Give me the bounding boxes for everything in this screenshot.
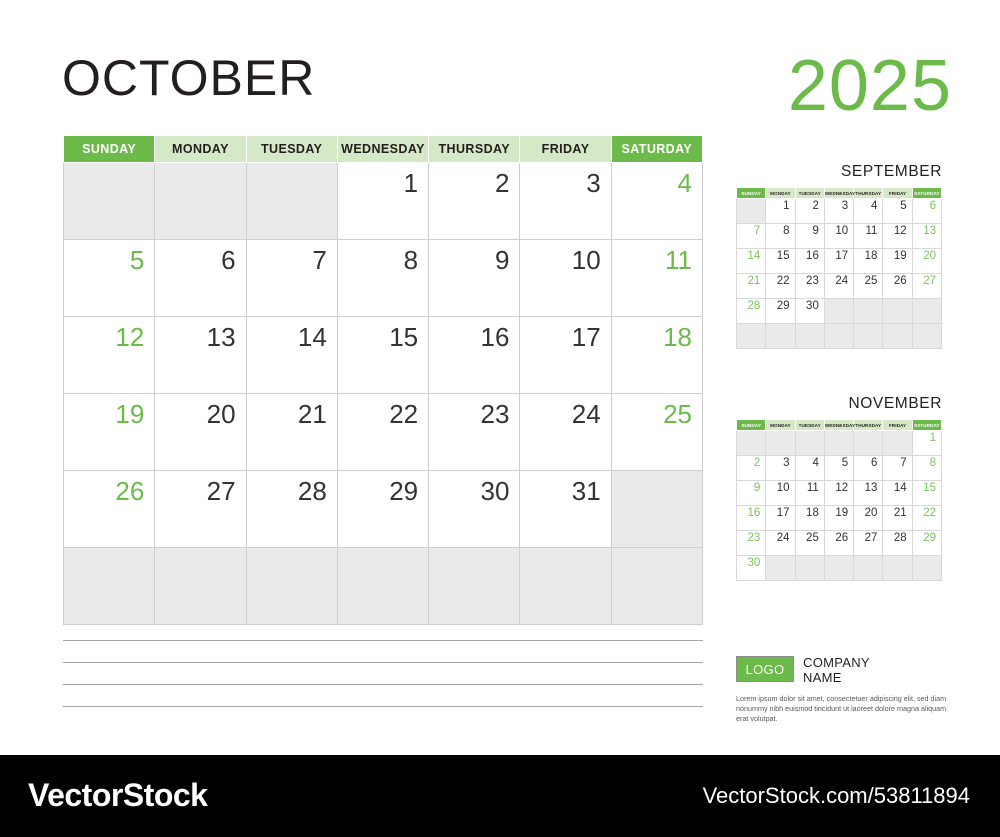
calendar-week-row: 78910111213: [737, 224, 942, 249]
calendar-cell-empty: [824, 431, 853, 456]
notes-area: [63, 640, 703, 728]
calendar-day-cell[interactable]: 8: [766, 224, 795, 249]
calendar-day-cell[interactable]: 20: [912, 249, 941, 274]
calendar-day-cell[interactable]: 8: [912, 456, 941, 481]
page-title: OCTOBER: [62, 53, 315, 103]
calendar-cell-empty: [246, 163, 337, 240]
calendar-cell-empty: [912, 324, 941, 349]
calendar-day-cell[interactable]: 26: [64, 471, 155, 548]
calendar-week-row: 123456: [737, 199, 942, 224]
mini-calendar-header-row: SUNDAYMONDAYTUESDAYWEDNESDAYTHURSDAYFRID…: [737, 188, 942, 199]
calendar-day-cell[interactable]: 27: [155, 471, 246, 548]
calendar-cell-empty: [520, 548, 611, 625]
calendar-day-cell[interactable]: 5: [64, 240, 155, 317]
calendar-day-cell[interactable]: 13: [854, 481, 883, 506]
logo-placeholder: LOGO: [736, 656, 794, 682]
calendar-day-cell[interactable]: 25: [795, 531, 824, 556]
calendar-day-cell[interactable]: 2: [429, 163, 520, 240]
calendar-day-cell[interactable]: 1: [766, 199, 795, 224]
calendar-day-cell[interactable]: 25: [611, 394, 702, 471]
calendar-sheet: OCTOBER 2025 SUNDAYMONDAYTUESDAYWEDNESDA…: [0, 0, 1000, 755]
calendar-week-row: 9101112131415: [737, 481, 942, 506]
calendar-week-row: [64, 548, 703, 625]
calendar-cell-empty: [429, 548, 520, 625]
calendar-day-cell[interactable]: 13: [912, 224, 941, 249]
calendar-week-row: 30: [737, 556, 942, 581]
calendar-day-cell[interactable]: 12: [883, 224, 912, 249]
calendar-day-cell[interactable]: 10: [520, 240, 611, 317]
note-line: [63, 684, 703, 685]
weekday-header-monday: MONDAY: [766, 188, 795, 199]
calendar-day-cell[interactable]: 24: [824, 274, 853, 299]
calendar-day-cell[interactable]: 23: [795, 274, 824, 299]
calendar-day-cell[interactable]: 20: [155, 394, 246, 471]
calendar-week-row: 1234: [64, 163, 703, 240]
calendar-day-cell[interactable]: 6: [155, 240, 246, 317]
calendar-day-cell[interactable]: 29: [912, 531, 941, 556]
calendar-day-cell[interactable]: 16: [795, 249, 824, 274]
calendar-day-cell[interactable]: 18: [795, 506, 824, 531]
calendar-day-cell[interactable]: 22: [337, 394, 428, 471]
calendar-day-cell[interactable]: 22: [766, 274, 795, 299]
calendar-day-cell[interactable]: 12: [824, 481, 853, 506]
calendar-cell-empty: [795, 431, 824, 456]
calendar-day-cell[interactable]: 15: [337, 317, 428, 394]
calendar-day-cell[interactable]: 16: [429, 317, 520, 394]
main-calendar-grid: SUNDAYMONDAYTUESDAYWEDNESDAYTHURSDAYFRID…: [63, 135, 703, 625]
weekday-header-friday: FRIDAY: [520, 136, 611, 163]
main-calendar-body: 1234567891011121314151617181920212223242…: [64, 163, 703, 625]
calendar-cell-empty: [883, 324, 912, 349]
calendar-cell-empty: [883, 556, 912, 581]
calendar-day-cell[interactable]: 7: [883, 456, 912, 481]
weekday-header-thursday: THURSDAY: [854, 188, 883, 199]
calendar-day-cell[interactable]: 29: [337, 471, 428, 548]
calendar-week-row: 1: [737, 431, 942, 456]
calendar-day-cell[interactable]: 19: [824, 506, 853, 531]
calendar-cell-empty: [912, 299, 941, 324]
calendar-day-cell[interactable]: 30: [429, 471, 520, 548]
calendar-cell-empty: [854, 299, 883, 324]
calendar-cell-empty: [766, 324, 795, 349]
calendar-cell-empty: [246, 548, 337, 625]
calendar-cell-empty: [766, 431, 795, 456]
calendar-day-cell[interactable]: 11: [795, 481, 824, 506]
calendar-day-cell[interactable]: 5: [883, 199, 912, 224]
weekday-header-tuesday: TUESDAY: [795, 420, 824, 431]
calendar-day-cell[interactable]: 9: [737, 481, 766, 506]
calendar-week-row: 19202122232425: [64, 394, 703, 471]
weekday-header-saturday: SATURDAY: [912, 420, 941, 431]
calendar-day-cell[interactable]: 2: [795, 199, 824, 224]
weekday-header-wednesday: WEDNESDAY: [824, 420, 853, 431]
calendar-day-cell[interactable]: 4: [611, 163, 702, 240]
calendar-day-cell[interactable]: 26: [883, 274, 912, 299]
calendar-cell-empty: [854, 556, 883, 581]
calendar-cell-empty: [766, 556, 795, 581]
weekday-header-sunday: SUNDAY: [64, 136, 155, 163]
calendar-day-cell[interactable]: 15: [912, 481, 941, 506]
calendar-day-cell[interactable]: 7: [246, 240, 337, 317]
calendar-day-cell[interactable]: 27: [854, 531, 883, 556]
calendar-cell-empty: [795, 556, 824, 581]
weekday-header-tuesday: TUESDAY: [795, 188, 824, 199]
footer-url: VectorStock.com/53811894: [703, 783, 970, 809]
calendar-cell-empty: [611, 471, 702, 548]
calendar-cell-empty: [824, 556, 853, 581]
weekday-header-wednesday: WEDNESDAY: [824, 188, 853, 199]
weekday-header-friday: FRIDAY: [883, 188, 912, 199]
weekday-header-wednesday: WEDNESDAY: [337, 136, 428, 163]
note-line: [63, 640, 703, 641]
weekday-header-thursday: THURSDAY: [429, 136, 520, 163]
calendar-day-cell[interactable]: 14: [737, 249, 766, 274]
calendar-day-cell[interactable]: 14: [883, 481, 912, 506]
calendar-day-cell[interactable]: 17: [824, 249, 853, 274]
calendar-cell-empty: [155, 163, 246, 240]
mini-calendar-body: 1234567891011121314151617181920212223242…: [737, 199, 942, 349]
calendar-day-cell[interactable]: 24: [766, 531, 795, 556]
calendar-day-cell[interactable]: 7: [737, 224, 766, 249]
calendar-day-cell[interactable]: 21: [246, 394, 337, 471]
mini-calendar-grid: SUNDAYMONDAYTUESDAYWEDNESDAYTHURSDAYFRID…: [736, 187, 942, 349]
calendar-cell-empty: [883, 431, 912, 456]
calendar-day-cell[interactable]: 29: [766, 299, 795, 324]
calendar-cell-empty: [611, 548, 702, 625]
mini-calendar-grid: SUNDAYMONDAYTUESDAYWEDNESDAYTHURSDAYFRID…: [736, 419, 942, 581]
weekday-header-friday: FRIDAY: [883, 420, 912, 431]
weekday-header-sunday: SUNDAY: [737, 420, 766, 431]
calendar-day-cell[interactable]: 25: [854, 274, 883, 299]
company-name-line: NAME: [803, 670, 842, 685]
calendar-day-cell[interactable]: 13: [155, 317, 246, 394]
calendar-cell-empty: [824, 324, 853, 349]
calendar-day-cell[interactable]: 21: [883, 506, 912, 531]
calendar-day-cell[interactable]: 14: [246, 317, 337, 394]
calendar-day-cell[interactable]: 21: [737, 274, 766, 299]
mini-calendar-september: SEPTEMBER SUNDAYMONDAYTUESDAYWEDNESDAYTH…: [736, 163, 942, 349]
calendar-week-row: [737, 324, 942, 349]
calendar-day-cell[interactable]: 16: [737, 506, 766, 531]
calendar-week-row: 21222324252627: [737, 274, 942, 299]
mini-calendar-november: NOVEMBER SUNDAYMONDAYTUESDAYWEDNESDAYTHU…: [736, 395, 942, 581]
weekday-header-saturday: SATURDAY: [611, 136, 702, 163]
calendar-day-cell[interactable]: 8: [337, 240, 428, 317]
calendar-week-row: 2345678: [737, 456, 942, 481]
calendar-day-cell[interactable]: 18: [611, 317, 702, 394]
calendar-day-cell[interactable]: 1: [912, 431, 941, 456]
calendar-day-cell[interactable]: 19: [64, 394, 155, 471]
calendar-day-cell[interactable]: 26: [824, 531, 853, 556]
company-description: Lorem ipsum dolor sit amet, consectetuer…: [736, 694, 948, 724]
calendar-day-cell[interactable]: 28: [737, 299, 766, 324]
year-label: 2025: [788, 50, 952, 122]
calendar-day-cell[interactable]: 17: [520, 317, 611, 394]
calendar-day-cell[interactable]: 30: [795, 299, 824, 324]
calendar-cell-empty: [337, 548, 428, 625]
calendar-day-cell[interactable]: 12: [64, 317, 155, 394]
company-block: LOGO COMPANYNAME Lorem ipsum dolor sit a…: [736, 656, 948, 724]
calendar-cell-empty: [64, 548, 155, 625]
calendar-week-row: 567891011: [64, 240, 703, 317]
mini-calendar-title: NOVEMBER: [736, 395, 942, 413]
calendar-week-row: 282930: [737, 299, 942, 324]
calendar-day-cell[interactable]: 10: [824, 224, 853, 249]
calendar-day-cell[interactable]: 4: [854, 199, 883, 224]
note-line: [63, 706, 703, 707]
calendar-day-cell[interactable]: 20: [854, 506, 883, 531]
calendar-day-cell[interactable]: 11: [611, 240, 702, 317]
weekday-header-tuesday: TUESDAY: [246, 136, 337, 163]
weekday-header-saturday: SATURDAY: [912, 188, 941, 199]
weekday-header-monday: MONDAY: [155, 136, 246, 163]
calendar-cell-empty: [883, 299, 912, 324]
calendar-day-cell[interactable]: 24: [520, 394, 611, 471]
calendar-week-row: 14151617181920: [737, 249, 942, 274]
calendar-cell-empty: [737, 199, 766, 224]
weekday-header-monday: MONDAY: [766, 420, 795, 431]
calendar-day-cell[interactable]: 2: [737, 456, 766, 481]
calendar-week-row: 23242526272829: [737, 531, 942, 556]
calendar-week-row: 262728293031: [64, 471, 703, 548]
calendar-day-cell[interactable]: 28: [883, 531, 912, 556]
note-line: [63, 662, 703, 663]
calendar-day-cell[interactable]: 11: [854, 224, 883, 249]
mini-calendar-title: SEPTEMBER: [736, 163, 942, 181]
calendar-day-cell[interactable]: 6: [912, 199, 941, 224]
calendar-day-cell[interactable]: 3: [766, 456, 795, 481]
calendar-day-cell[interactable]: 1: [337, 163, 428, 240]
calendar-day-cell[interactable]: 3: [520, 163, 611, 240]
calendar-week-row: 16171819202122: [737, 506, 942, 531]
calendar-day-cell[interactable]: 19: [883, 249, 912, 274]
calendar-cell-empty: [912, 556, 941, 581]
footer-brand: VectorStock: [28, 777, 207, 814]
calendar-day-cell[interactable]: 9: [429, 240, 520, 317]
calendar-cell-empty: [155, 548, 246, 625]
calendar-day-cell[interactable]: 27: [912, 274, 941, 299]
company-name-line: COMPANY: [803, 655, 870, 670]
calendar-cell-empty: [64, 163, 155, 240]
calendar-day-cell[interactable]: 9: [795, 224, 824, 249]
calendar-day-cell[interactable]: 23: [737, 531, 766, 556]
calendar-cell-empty: [737, 431, 766, 456]
calendar-day-cell[interactable]: 30: [737, 556, 766, 581]
calendar-day-cell[interactable]: 31: [520, 471, 611, 548]
calendar-day-cell[interactable]: 10: [766, 481, 795, 506]
weekday-header-thursday: THURSDAY: [854, 420, 883, 431]
main-calendar-header-row: SUNDAYMONDAYTUESDAYWEDNESDAYTHURSDAYFRID…: [64, 136, 703, 163]
mini-calendar-body: 1234567891011121314151617181920212223242…: [737, 431, 942, 581]
calendar-week-row: 12131415161718: [64, 317, 703, 394]
calendar-cell-empty: [824, 299, 853, 324]
calendar-day-cell[interactable]: 17: [766, 506, 795, 531]
calendar-cell-empty: [737, 324, 766, 349]
calendar-day-cell[interactable]: 5: [824, 456, 853, 481]
calendar-day-cell[interactable]: 22: [912, 506, 941, 531]
calendar-day-cell[interactable]: 18: [854, 249, 883, 274]
watermark-footer: VectorStock VectorStock.com/53811894: [0, 755, 1000, 837]
company-name: COMPANYNAME: [803, 656, 870, 685]
weekday-header-sunday: SUNDAY: [737, 188, 766, 199]
calendar-day-cell[interactable]: 4: [795, 456, 824, 481]
calendar-day-cell[interactable]: 23: [429, 394, 520, 471]
calendar-day-cell[interactable]: 3: [824, 199, 853, 224]
calendar-day-cell[interactable]: 6: [854, 456, 883, 481]
mini-calendar-header-row: SUNDAYMONDAYTUESDAYWEDNESDAYTHURSDAYFRID…: [737, 420, 942, 431]
calendar-cell-empty: [854, 431, 883, 456]
calendar-day-cell[interactable]: 28: [246, 471, 337, 548]
calendar-cell-empty: [854, 324, 883, 349]
calendar-day-cell[interactable]: 15: [766, 249, 795, 274]
calendar-cell-empty: [795, 324, 824, 349]
